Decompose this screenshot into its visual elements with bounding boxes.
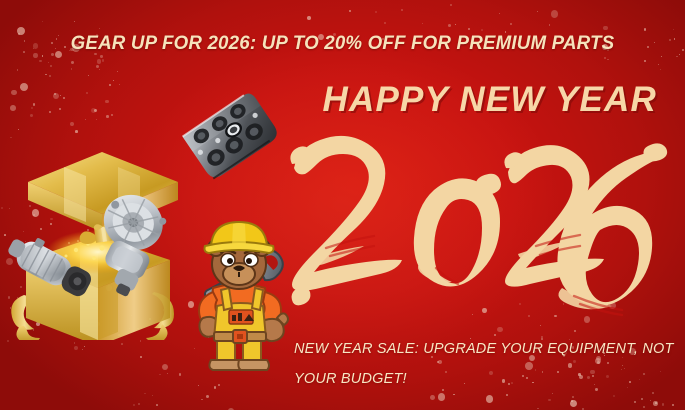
engine-part-graphic: [176, 82, 294, 200]
gift-box-graphic: [2, 140, 202, 340]
happy-new-year-title: HAPPY NEW YEAR: [323, 80, 657, 120]
new-year-promo-banner: GEAR UP FOR 2026: UP TO 20% OFF FOR PREM…: [0, 0, 685, 410]
promo-tagline: NEW YEAR SALE: UPGRADE YOUR EQUIPMENT, N…: [294, 334, 674, 394]
tagline-line-1: NEW YEAR SALE: UPGRADE YOUR EQUIPMENT, N…: [294, 334, 674, 364]
mascot-bear-mechanic: [181, 216, 299, 376]
promo-headline: GEAR UP FOR 2026: UP TO 20% OFF FOR PREM…: [14, 32, 672, 55]
tagline-line-2: YOUR BUDGET!: [294, 364, 674, 394]
year-2026-brush-graphic: [286, 128, 678, 328]
